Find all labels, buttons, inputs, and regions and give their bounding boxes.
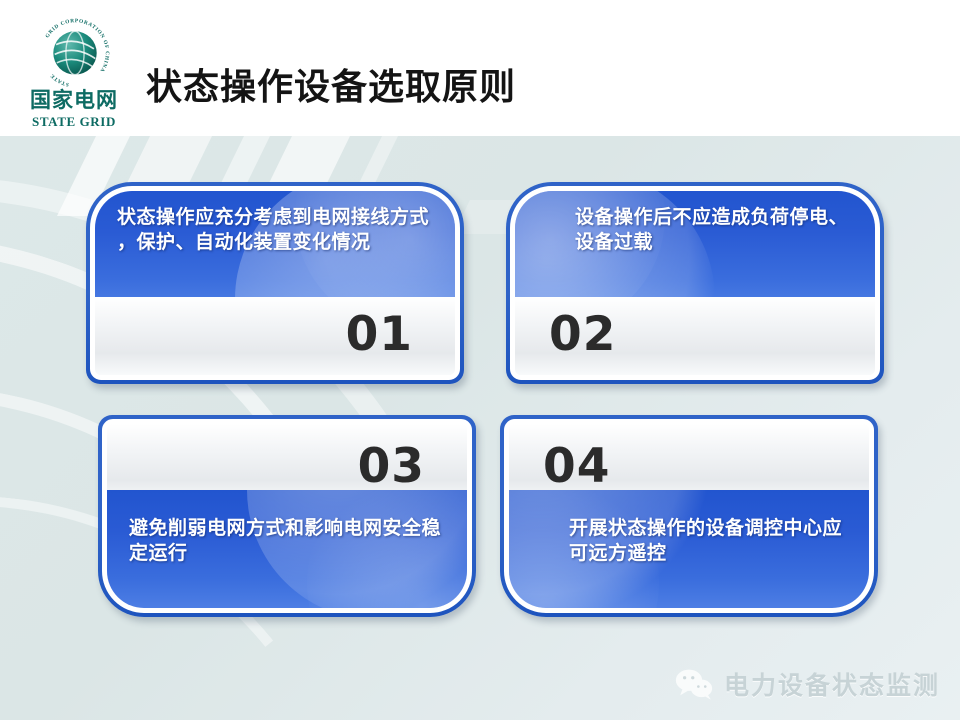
principle-card-01[interactable]: 状态操作应充分考虑到电网接线方式 ，保护、自动化装置变化情况 01 [86,182,464,384]
slide-root: GRID CORPORATION OF CHINA STATE 国家电网 STA… [0,0,960,720]
card-text: 开展状态操作的设备调控中心应可远方遥控 [509,490,869,566]
card-number-strip: 02 [515,297,875,375]
card-text: 避免削弱电网方式和影响电网安全稳定运行 [107,490,467,566]
card-inner: 设备操作后不应造成负荷停电、设备过载 02 [510,186,880,380]
principle-card-04[interactable]: 04 开展状态操作的设备调控中心应可远方遥控 [500,415,878,617]
state-grid-logo: GRID CORPORATION OF CHINA STATE 国家电网 STA… [22,18,126,126]
card-number: 04 [543,443,610,490]
slide-header: GRID CORPORATION OF CHINA STATE 国家电网 STA… [0,0,960,136]
card-inner: 03 避免削弱电网方式和影响电网安全稳定运行 [102,419,472,613]
wechat-icon [674,667,714,701]
card-inner: 状态操作应充分考虑到电网接线方式 ，保护、自动化装置变化情况 01 [90,186,460,380]
watermark: 电力设备状态监测 [674,666,940,702]
card-number: 02 [549,311,616,358]
card-number: 01 [346,311,413,358]
card-number-strip: 01 [95,297,455,375]
card-text-panel: 开展状态操作的设备调控中心应可远方遥控 [509,490,869,608]
principle-card-02[interactable]: 设备操作后不应造成负荷停电、设备过载 02 [506,182,884,384]
logo-name-en: STATE GRID [22,114,126,130]
state-grid-globe-icon: GRID CORPORATION OF CHINA STATE [40,18,110,88]
logo-name-cn: 国家电网 [22,88,126,112]
principle-card-03[interactable]: 03 避免削弱电网方式和影响电网安全稳定运行 [98,415,476,617]
card-inner: 04 开展状态操作的设备调控中心应可远方遥控 [504,419,874,613]
card-text: 状态操作应充分考虑到电网接线方式 ，保护、自动化装置变化情况 [95,191,455,255]
card-text-panel: 设备操作后不应造成负荷停电、设备过载 [515,191,875,309]
card-text-panel: 状态操作应充分考虑到电网接线方式 ，保护、自动化装置变化情况 [95,191,455,309]
card-number: 03 [358,443,425,490]
card-text: 设备操作后不应造成负荷停电、设备过载 [515,191,875,255]
svg-text:STATE: STATE [49,72,70,87]
card-text-panel: 避免削弱电网方式和影响电网安全稳定运行 [107,490,467,608]
page-title: 状态操作设备选取原则 [146,58,516,110]
watermark-text: 电力设备状态监测 [724,666,940,702]
